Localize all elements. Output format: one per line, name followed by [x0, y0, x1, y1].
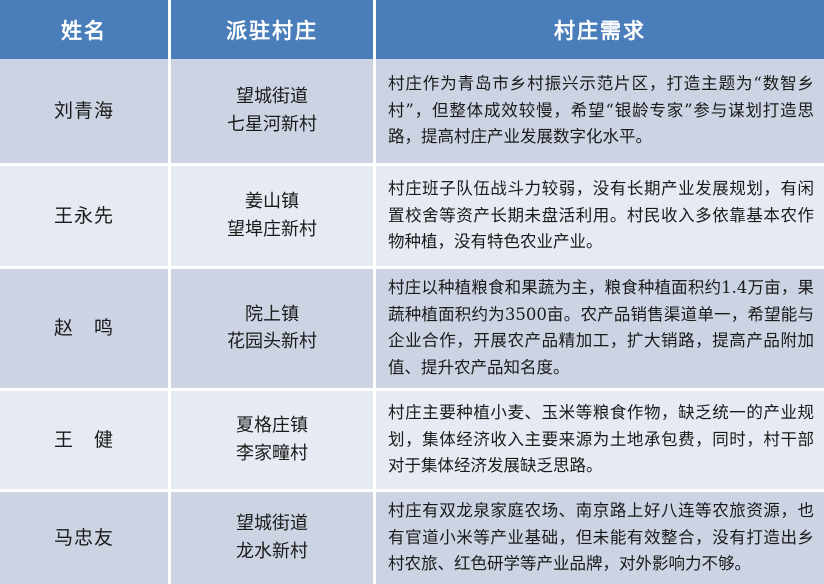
- table-header: 姓名 派驻村庄 村庄需求: [0, 0, 824, 59]
- cell-village: 望城街道 龙水新村: [171, 492, 376, 584]
- cell-village: 夏格庄镇 李家疃村: [171, 391, 376, 492]
- village-line-2: 龙水新村: [171, 538, 373, 566]
- table-body: 刘青海 望城街道 七星河新村 村庄作为青岛市乡村振兴示范片区，打造主题为“数智乡…: [0, 59, 824, 584]
- cell-name: 赵 鸣: [0, 269, 171, 391]
- cell-name: 马忠友: [0, 492, 171, 584]
- village-needs-table-container: 姓名 派驻村庄 村庄需求 刘青海 望城街道 七星河新村 村庄作为青岛市乡村振兴示…: [0, 0, 824, 503]
- table-row: 王 健 夏格庄镇 李家疃村 村庄主要种植小麦、玉米等粮食作物，缺乏统一的产业规划…: [0, 391, 824, 492]
- village-line-1: 望城街道: [171, 83, 373, 111]
- village-line-1: 望城街道: [171, 510, 373, 538]
- village-line-1: 院上镇: [171, 301, 373, 329]
- village-line-2: 李家疃村: [171, 440, 373, 468]
- cell-village: 院上镇 花园头新村: [171, 269, 376, 391]
- village-line-2: 花园头新村: [171, 328, 373, 356]
- table-row: 刘青海 望城街道 七星河新村 村庄作为青岛市乡村振兴示范片区，打造主题为“数智乡…: [0, 59, 824, 166]
- cell-village: 姜山镇 望埠庄新村: [171, 166, 376, 269]
- village-line-2: 七星河新村: [171, 111, 373, 139]
- cell-need: 村庄主要种植小麦、玉米等粮食作物，缺乏统一的产业规划，集体经济收入主要来源为土地…: [376, 391, 824, 492]
- cell-name: 王 健: [0, 391, 171, 492]
- cell-need: 村庄有双龙泉家庭农场、南京路上好八连等农旅资源，也有官道小米等产业基础，但未能有…: [376, 492, 824, 584]
- table-row: 赵 鸣 院上镇 花园头新村 村庄以种植粮食和果蔬为主，粮食种植面积约1.4万亩，…: [0, 269, 824, 391]
- column-header-village: 派驻村庄: [171, 0, 376, 59]
- table-header-row: 姓名 派驻村庄 村庄需求: [0, 0, 824, 59]
- village-line-1: 姜山镇: [171, 188, 373, 216]
- village-line-1: 夏格庄镇: [171, 412, 373, 440]
- cell-need: 村庄以种植粮食和果蔬为主，粮食种植面积约1.4万亩，果蔬种植面积约为3500亩。…: [376, 269, 824, 391]
- cell-name: 刘青海: [0, 59, 171, 166]
- village-needs-table: 姓名 派驻村庄 村庄需求 刘青海 望城街道 七星河新村 村庄作为青岛市乡村振兴示…: [0, 0, 824, 584]
- column-header-need: 村庄需求: [376, 0, 824, 59]
- village-line-2: 望埠庄新村: [171, 216, 373, 244]
- cell-need: 村庄作为青岛市乡村振兴示范片区，打造主题为“数智乡村”，但整体成效较慢，希望“银…: [376, 59, 824, 166]
- cell-need: 村庄班子队伍战斗力较弱，没有长期产业发展规划，有闲置校舍等资产长期未盘活利用。村…: [376, 166, 824, 269]
- table-row: 王永先 姜山镇 望埠庄新村 村庄班子队伍战斗力较弱，没有长期产业发展规划，有闲置…: [0, 166, 824, 269]
- table-row: 马忠友 望城街道 龙水新村 村庄有双龙泉家庭农场、南京路上好八连等农旅资源，也有…: [0, 492, 824, 584]
- column-header-name: 姓名: [0, 0, 171, 59]
- cell-village: 望城街道 七星河新村: [171, 59, 376, 166]
- cell-name: 王永先: [0, 166, 171, 269]
